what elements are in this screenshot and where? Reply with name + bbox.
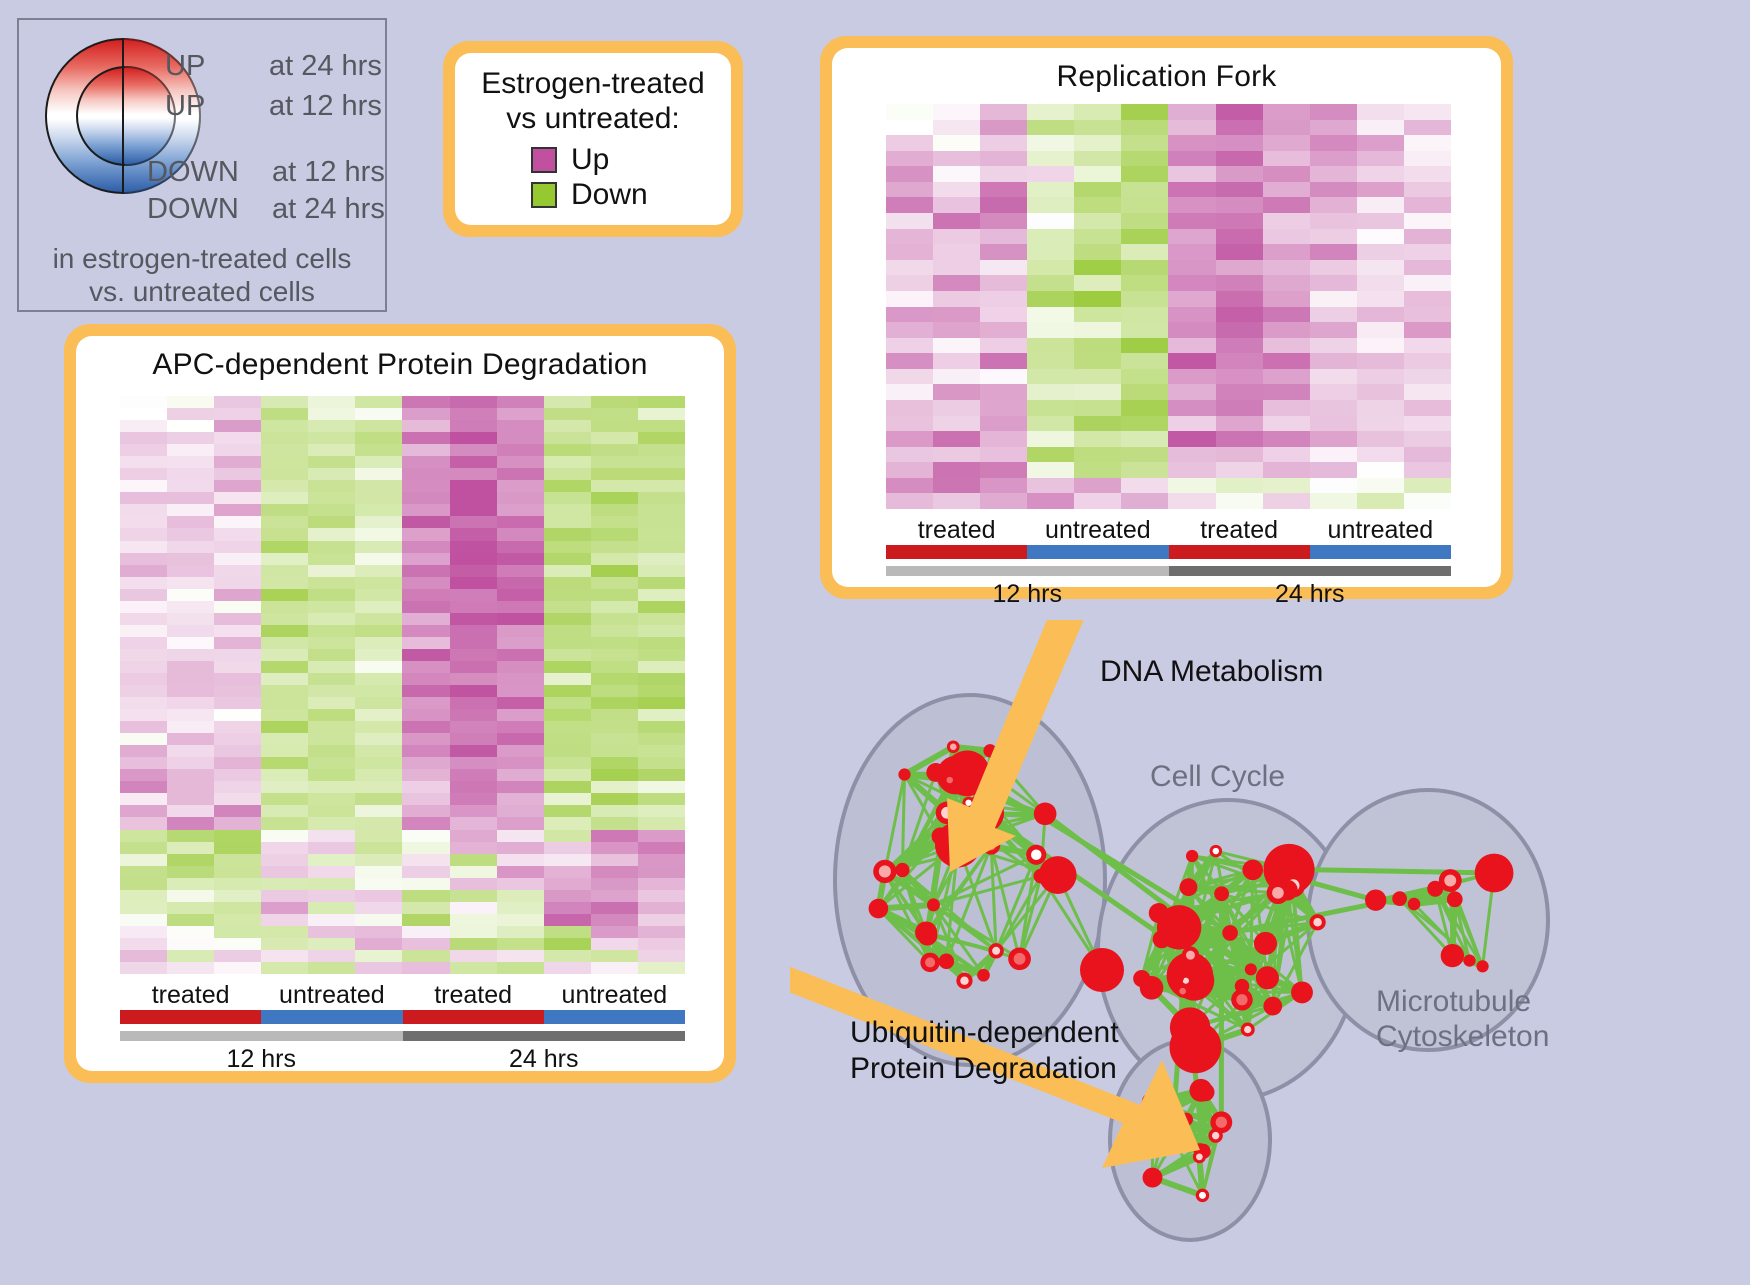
- node-outer-ring: [1475, 854, 1514, 893]
- heatmap-cell: [886, 182, 933, 198]
- heatmap-cell: [167, 685, 214, 697]
- heatmap-cell: [591, 553, 638, 565]
- heatmap-cell: [1168, 369, 1215, 385]
- heatmap-cell: [1121, 260, 1168, 276]
- heatmap-cell: [450, 902, 497, 914]
- down-color-swatch: [531, 182, 557, 208]
- figure-canvas: UP at 24 hrs UP at 12 hrs DOWN at 12 hrs…: [0, 0, 1750, 1279]
- network-node[interactable]: [956, 973, 972, 989]
- heatmap-cell: [120, 854, 167, 866]
- heatmap-cell: [1216, 307, 1263, 323]
- heatmap-cell: [261, 793, 308, 805]
- node-inner-disc: [1179, 988, 1186, 995]
- heatmap-cell: [261, 601, 308, 613]
- heatmap-cell: [120, 528, 167, 540]
- heatmap-cell: [120, 396, 167, 408]
- heatmap-cell: [1263, 197, 1310, 213]
- heatmap-cell: [167, 553, 214, 565]
- heatmap-cell: [1168, 431, 1215, 447]
- heatmap-cell: [167, 456, 214, 468]
- network-node[interactable]: [944, 774, 956, 786]
- heatmap-cell: [980, 275, 1027, 291]
- heatmap-cell: [214, 516, 261, 528]
- heatmap-cell: [544, 709, 591, 721]
- heatmap-cell: [933, 244, 980, 260]
- heatmap-cell: [1263, 182, 1310, 198]
- heatmap-cell: [120, 673, 167, 685]
- heatmap-cell: [980, 244, 1027, 260]
- heatmap-cell: [214, 504, 261, 516]
- heatmap-cell: [214, 649, 261, 661]
- network-node[interactable]: [988, 943, 1003, 958]
- heatmap-cell: [355, 625, 402, 637]
- network-node[interactable]: [1256, 966, 1279, 989]
- heatmap-cell: [497, 817, 544, 829]
- heatmap-cell: [1168, 260, 1215, 276]
- heatmap-cell: [214, 541, 261, 553]
- heatmap-cell: [402, 601, 449, 613]
- network-node[interactable]: [917, 926, 937, 946]
- network-node[interactable]: [1173, 914, 1190, 931]
- heatmap-cell: [591, 817, 638, 829]
- heatmap-cell: [355, 456, 402, 468]
- node-outer-ring: [1242, 860, 1263, 881]
- heatmap-cell: [308, 444, 355, 456]
- legend-footnote-line1: in estrogen-treated cells: [19, 242, 385, 275]
- heatmap-cell: [120, 492, 167, 504]
- heatmap-cell: [1404, 462, 1451, 478]
- heatmap-cell: [1216, 322, 1263, 338]
- heatmap-cell: [167, 830, 214, 842]
- replication-fork-panel: Replication Fork treateduntreatedtreated…: [820, 36, 1513, 599]
- heatmap-cell: [1074, 182, 1121, 198]
- node-outer-ring: [1034, 802, 1057, 825]
- heatmap-cell: [308, 902, 355, 914]
- node-inner-disc: [1313, 918, 1321, 926]
- node-outer-ring: [1441, 944, 1464, 967]
- heatmap-cell: [355, 830, 402, 842]
- heatmap-cell: [1027, 104, 1074, 120]
- network-node[interactable]: [1475, 854, 1514, 893]
- heatmap-cell: [886, 104, 933, 120]
- heatmap-cell: [402, 589, 449, 601]
- node-outer-ring: [1408, 898, 1421, 911]
- node-inner-disc: [879, 865, 891, 877]
- heatmap-cell: [355, 528, 402, 540]
- heatmap-cell: [261, 830, 308, 842]
- heatmap-cell: [120, 601, 167, 613]
- heatmap-cell: [638, 733, 685, 745]
- heatmap-cell: [308, 613, 355, 625]
- network-node[interactable]: [1242, 860, 1263, 881]
- time-bar-segment: [886, 566, 1169, 576]
- heatmap-cell: [308, 769, 355, 781]
- heatmap-cell: [1310, 213, 1357, 229]
- heatmap-cell: [167, 637, 214, 649]
- heatmap-cell: [308, 745, 355, 757]
- heatmap-cell: [933, 135, 980, 151]
- heatmap-cell: [886, 166, 933, 182]
- network-node[interactable]: [1208, 1128, 1222, 1142]
- heatmap-cell: [214, 733, 261, 745]
- network-node[interactable]: [1196, 1083, 1214, 1101]
- heatmap-cell: [402, 854, 449, 866]
- heatmap-cell: [450, 866, 497, 878]
- network-node[interactable]: [898, 768, 910, 780]
- heatmap-cell: [450, 649, 497, 661]
- heatmap-cell: [1074, 338, 1121, 354]
- heatmap-cell: [167, 649, 214, 661]
- node-outer-ring: [1080, 948, 1124, 992]
- network-node[interactable]: [920, 953, 939, 972]
- heatmap-cell: [1121, 120, 1168, 136]
- heatmap-cell: [214, 528, 261, 540]
- network-node[interactable]: [1441, 944, 1464, 967]
- heatmap-cell: [1310, 307, 1357, 323]
- heatmap-cell: [308, 577, 355, 589]
- heatmap-cell: [402, 914, 449, 926]
- heatmap-cell: [402, 456, 449, 468]
- node-outer-ring: [932, 828, 949, 845]
- network-node[interactable]: [1222, 925, 1238, 941]
- heatmap-cell: [355, 926, 402, 938]
- heatmap-cell: [1310, 244, 1357, 260]
- heatmap-cell: [402, 492, 449, 504]
- heatmap-cell: [167, 468, 214, 480]
- heatmap-cell: [402, 842, 449, 854]
- heatmap-cell: [450, 890, 497, 902]
- group-label: treated: [403, 981, 544, 1010]
- heatmap-cell: [214, 757, 261, 769]
- heatmap-cell: [120, 697, 167, 709]
- network-node[interactable]: [1214, 886, 1229, 901]
- heatmap-cell: [450, 950, 497, 962]
- heatmap-cell: [886, 291, 933, 307]
- heatmap-cell: [261, 613, 308, 625]
- network-node[interactable]: [1463, 954, 1475, 966]
- heatmap-cell: [308, 528, 355, 540]
- network-node[interactable]: [1365, 889, 1386, 910]
- heatmap-cell: [638, 577, 685, 589]
- node-inner-disc: [960, 977, 968, 985]
- heatmap-cell: [261, 709, 308, 721]
- heatmap-cell: [450, 817, 497, 829]
- heatmap-cell: [544, 480, 591, 492]
- network-node[interactable]: [1254, 932, 1277, 955]
- heatmap-cell: [402, 408, 449, 420]
- heatmap-cell: [261, 649, 308, 661]
- heatmap-cell: [450, 938, 497, 950]
- group-label: treated: [886, 516, 1027, 545]
- heatmap-cell: [497, 396, 544, 408]
- network-node[interactable]: [1186, 850, 1198, 862]
- network-node[interactable]: [1263, 997, 1282, 1016]
- heatmap-cell: [544, 528, 591, 540]
- heatmap-cell: [544, 577, 591, 589]
- network-node[interactable]: [1140, 976, 1164, 1000]
- heatmap-cell: [886, 462, 933, 478]
- network-node[interactable]: [1033, 869, 1048, 884]
- time-label: 24 hrs: [1169, 580, 1452, 609]
- network-node[interactable]: [927, 898, 940, 911]
- heatmap-cell: [591, 661, 638, 673]
- heatmap-cell: [497, 926, 544, 938]
- heatmap-cell: [1404, 384, 1451, 400]
- heatmap-cell: [308, 793, 355, 805]
- heatmap-cell: [355, 492, 402, 504]
- heatmap-cell: [355, 565, 402, 577]
- heatmap-cell: [544, 553, 591, 565]
- network-node[interactable]: [1180, 878, 1198, 896]
- heatmap-cell: [497, 444, 544, 456]
- heatmap-cell: [1216, 120, 1263, 136]
- heatmap-cell: [261, 673, 308, 685]
- network-node[interactable]: [1245, 963, 1257, 975]
- heatmap-cell: [308, 914, 355, 926]
- heatmap-cell: [980, 478, 1027, 494]
- heatmap-cell: [497, 950, 544, 962]
- legend-row-up-12: UP: [165, 90, 205, 123]
- network-node[interactable]: [1034, 802, 1057, 825]
- network-node[interactable]: [1408, 898, 1421, 911]
- network-node[interactable]: [1026, 845, 1046, 865]
- heatmap-cell: [497, 914, 544, 926]
- heatmap-cell: [120, 926, 167, 938]
- group-label: untreated: [1027, 516, 1168, 545]
- heatmap-cell: [1263, 244, 1310, 260]
- heatmap-cell: [980, 120, 1027, 136]
- network-node[interactable]: [1210, 845, 1222, 857]
- heatmap-cell: [308, 962, 355, 974]
- network-node[interactable]: [1008, 947, 1031, 970]
- network-node[interactable]: [1170, 970, 1184, 984]
- network-node[interactable]: [1143, 1168, 1163, 1188]
- heatmap-cell: [886, 416, 933, 432]
- network-node[interactable]: [1267, 882, 1289, 904]
- heatmap-cell: [1404, 104, 1451, 120]
- heatmap-cell: [544, 805, 591, 817]
- heatmap-cell: [355, 817, 402, 829]
- network-node[interactable]: [1476, 960, 1488, 972]
- network-node[interactable]: [1182, 946, 1199, 963]
- network-node[interactable]: [1231, 989, 1253, 1011]
- heatmap-cell: [1121, 291, 1168, 307]
- heatmap-cell: [450, 613, 497, 625]
- heatmap-cell: [402, 926, 449, 938]
- network-node[interactable]: [1392, 891, 1407, 906]
- heatmap-cell: [1074, 120, 1121, 136]
- heatmap-cell: [1168, 447, 1215, 463]
- network-node[interactable]: [1149, 903, 1169, 923]
- node-outer-ring: [1180, 878, 1198, 896]
- network-node[interactable]: [932, 828, 949, 845]
- network-node[interactable]: [1193, 1150, 1206, 1163]
- heatmap-cell: [214, 950, 261, 962]
- heatmap-cell: [1121, 166, 1168, 182]
- node-outer-ring: [1222, 925, 1238, 941]
- heatmap-cell: [1027, 213, 1074, 229]
- cluster-label-dna-metabolism: DNA Metabolism: [1100, 655, 1323, 689]
- heatmap-cell: [308, 709, 355, 721]
- heatmap-cell: [497, 589, 544, 601]
- heatmap-cell: [980, 369, 1027, 385]
- heatmap-cell: [120, 577, 167, 589]
- replication-fork-title: Replication Fork: [832, 48, 1501, 94]
- heatmap-cell: [638, 444, 685, 456]
- heatmap-cell: [308, 854, 355, 866]
- heatmap-cell: [214, 625, 261, 637]
- heatmap-cell: [1027, 338, 1074, 354]
- network-node[interactable]: [895, 863, 909, 877]
- heatmap-cell: [308, 697, 355, 709]
- heatmap-cell: [120, 432, 167, 444]
- heatmap-cell: [497, 757, 544, 769]
- heatmap-cell: [886, 384, 933, 400]
- heatmap-cell: [261, 817, 308, 829]
- heatmap-cell: [638, 745, 685, 757]
- heatmap-cell: [638, 926, 685, 938]
- heatmap-cell: [497, 504, 544, 516]
- heatmap-cell: [308, 661, 355, 673]
- heatmap-cell: [1310, 322, 1357, 338]
- heatmap-cell: [544, 697, 591, 709]
- heatmap-cell: [544, 745, 591, 757]
- replication-fork-heatmap: [886, 104, 1451, 509]
- network-node[interactable]: [1439, 869, 1462, 892]
- heatmap-cell: [980, 197, 1027, 213]
- heatmap-cell: [308, 408, 355, 420]
- network-node[interactable]: [1170, 1021, 1222, 1073]
- heatmap-cell: [1263, 322, 1310, 338]
- heatmap-cell: [1357, 291, 1404, 307]
- heatmap-cell: [980, 166, 1027, 182]
- heatmap-cell: [1027, 229, 1074, 245]
- heatmap-cell: [1263, 307, 1310, 323]
- heatmap-cell: [1216, 478, 1263, 494]
- legend-direction-label: DOWN: [147, 193, 239, 225]
- cluster-label-cell-cycle: Cell Cycle: [1150, 760, 1285, 794]
- heatmap-cell: [980, 431, 1027, 447]
- heatmap-cell: [308, 601, 355, 613]
- heatmap-cell: [1074, 369, 1121, 385]
- node-outer-ring: [1392, 891, 1407, 906]
- heatmap-cell: [450, 757, 497, 769]
- heatmap-cell: [933, 166, 980, 182]
- heatmap-cell: [591, 444, 638, 456]
- heatmap-cell: [1216, 244, 1263, 260]
- heatmap-cell: [933, 151, 980, 167]
- network-node[interactable]: [1447, 891, 1463, 907]
- heatmap-cell: [591, 781, 638, 793]
- heatmap-cell: [120, 902, 167, 914]
- heatmap-cell: [1074, 104, 1121, 120]
- heatmap-cell: [544, 625, 591, 637]
- heatmap-cell: [591, 709, 638, 721]
- heatmap-cell: [355, 781, 402, 793]
- heatmap-cell: [214, 492, 261, 504]
- heatmap-cell: [167, 817, 214, 829]
- legend-row-down-24: DOWN: [147, 193, 239, 226]
- network-node[interactable]: [1153, 930, 1171, 948]
- heatmap-cell: [167, 854, 214, 866]
- heatmap-cell: [450, 528, 497, 540]
- heatmap-cell: [355, 902, 402, 914]
- heatmap-cell: [214, 468, 261, 480]
- heatmap-cell: [638, 697, 685, 709]
- heatmap-cell: [544, 444, 591, 456]
- heatmap-cell: [638, 492, 685, 504]
- legend-direction-label: UP: [165, 90, 205, 122]
- heatmap-cell: [497, 553, 544, 565]
- heatmap-cell: [1168, 197, 1215, 213]
- network-node[interactable]: [1309, 914, 1325, 930]
- network-node[interactable]: [1291, 981, 1313, 1003]
- heatmap-cell: [1263, 120, 1310, 136]
- heatmap-cell: [1404, 291, 1451, 307]
- heatmap-cell: [402, 565, 449, 577]
- heatmap-cell: [1121, 229, 1168, 245]
- heatmap-cell: [1263, 353, 1310, 369]
- heatmap-cell: [980, 416, 1027, 432]
- heatmap-cell: [167, 781, 214, 793]
- heatmap-cell: [497, 613, 544, 625]
- network-node[interactable]: [977, 969, 990, 982]
- network-node[interactable]: [873, 860, 896, 883]
- heatmap-cell: [544, 950, 591, 962]
- heatmap-cell: [591, 468, 638, 480]
- ubiquitin-line1: Ubiquitin-dependent: [850, 1015, 1119, 1051]
- legend-time-label: at 12 hrs: [272, 156, 385, 188]
- heatmap-cell: [1357, 120, 1404, 136]
- heatmap-cell: [1216, 166, 1263, 182]
- network-node[interactable]: [939, 954, 955, 970]
- network-node[interactable]: [947, 740, 960, 753]
- heatmap-cell: [402, 504, 449, 516]
- heatmap-cell: [402, 661, 449, 673]
- network-node[interactable]: [926, 763, 945, 782]
- apc-annotation: treateduntreatedtreateduntreated 12 hrs2…: [120, 981, 685, 1074]
- heatmap-cell: [1404, 166, 1451, 182]
- heatmap-cell: [308, 721, 355, 733]
- heatmap-cell: [214, 854, 261, 866]
- network-node[interactable]: [869, 899, 889, 919]
- time-bar-segment: [403, 1031, 686, 1041]
- heatmap-cell: [1168, 353, 1215, 369]
- node-inner-disc: [1213, 848, 1219, 854]
- network-node[interactable]: [1176, 985, 1189, 998]
- network-node[interactable]: [1196, 1189, 1210, 1203]
- heatmap-cell: [638, 396, 685, 408]
- network-node[interactable]: [1080, 948, 1124, 992]
- heatmap-cell: [544, 781, 591, 793]
- heatmap-cell: [355, 769, 402, 781]
- network-node[interactable]: [1241, 1023, 1255, 1037]
- heatmap-cell: [544, 902, 591, 914]
- heatmap-cell: [214, 842, 261, 854]
- heatmap-cell: [1121, 447, 1168, 463]
- heatmap-cell: [1074, 400, 1121, 416]
- heatmap-cell: [167, 661, 214, 673]
- heatmap-cell: [1216, 400, 1263, 416]
- apc-panel-inner: APC-dependent Protein Degradation treate…: [76, 336, 724, 1071]
- heatmap-cell: [450, 480, 497, 492]
- heatmap-cell: [402, 781, 449, 793]
- heatmap-cell: [933, 120, 980, 136]
- heatmap-cell: [120, 745, 167, 757]
- heatmap-cell: [261, 950, 308, 962]
- heatmap-cell: [544, 601, 591, 613]
- heatmap-cell: [544, 456, 591, 468]
